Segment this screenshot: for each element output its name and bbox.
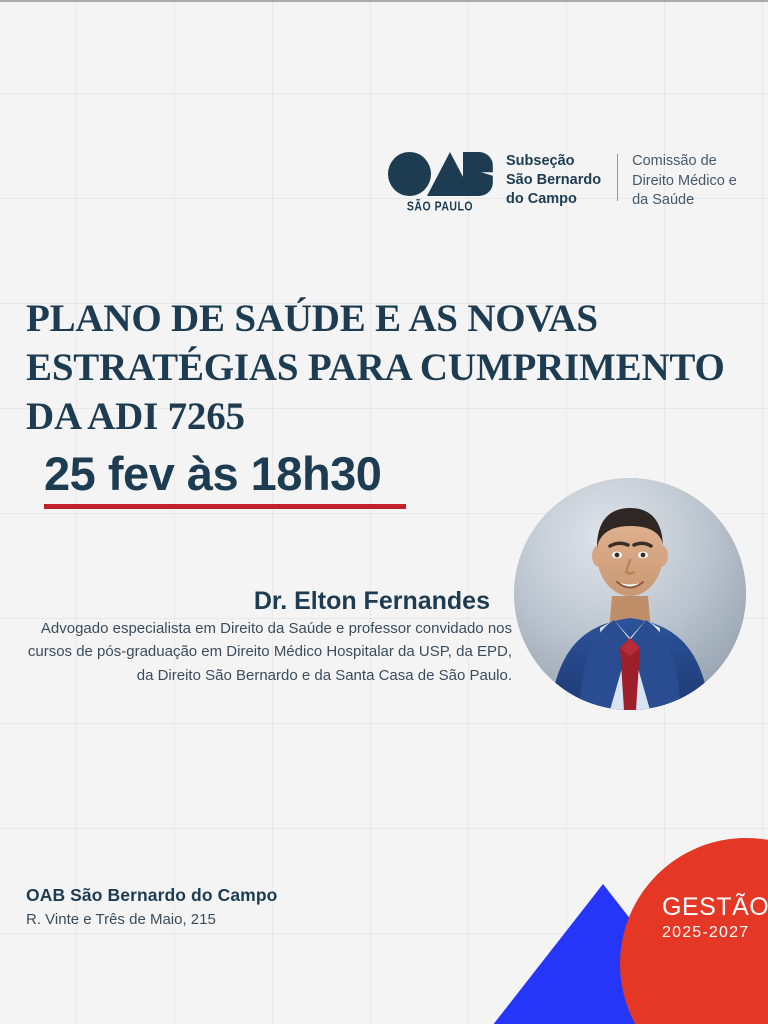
header-divider [617, 154, 618, 201]
gestao-badge-years: 2025-2027 [662, 924, 768, 942]
page-title: PLANO DE SAÚDE E AS NOVAS ESTRATÉGIAS PA… [26, 294, 752, 441]
gestao-badge-row: GESTÃO [662, 892, 768, 922]
event-date-text: 25 fev às 18h30 [44, 450, 406, 497]
gestao-badge: GESTÃO 2025-2027 [662, 892, 768, 942]
gestao-badge-word: GESTÃO [662, 895, 768, 920]
speaker-name: Dr. Elton Fernandes [20, 587, 490, 616]
footer-address: R. Vinte e Três de Maio, 215 [26, 911, 277, 928]
oab-logo: SÃO PAULO [388, 148, 492, 211]
oab-subsection-label: Subseção São Bernardo do Campo [506, 148, 601, 209]
oab-letter-o-icon [388, 152, 431, 196]
oab-letter-b-icon [463, 152, 492, 196]
header-logo-lockup: SÃO PAULO Subseção São Bernardo do Campo… [388, 148, 737, 211]
speaker-avatar [514, 478, 746, 710]
speaker-portrait-illustration [514, 478, 746, 710]
oab-logo-subtitle: SÃO PAULO [388, 199, 492, 214]
footer-organization-name: OAB São Bernardo do Campo [26, 885, 277, 906]
oab-logo-glyphs [388, 148, 492, 196]
footer-contact: OAB São Bernardo do Campo R. Vinte e Trê… [26, 885, 277, 928]
event-date-block: 25 fev às 18h30 [44, 450, 406, 509]
event-poster: SÃO PAULO Subseção São Bernardo do Campo… [0, 0, 768, 1024]
date-underline-rule [44, 504, 406, 509]
speaker-bio: Advogado especialista em Direito da Saúd… [20, 617, 512, 687]
commission-label: Comissão de Direito Médico e da Saúde [632, 148, 737, 211]
top-border-line [0, 0, 768, 2]
